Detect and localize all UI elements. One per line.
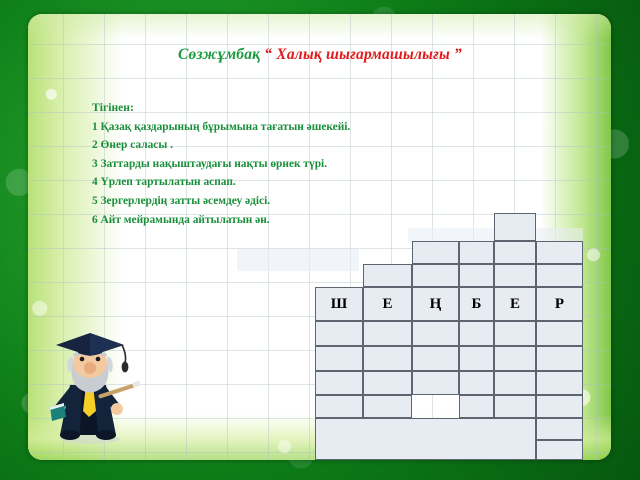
crossword-empty-cell[interactable]	[363, 346, 412, 371]
crossword-empty-cell[interactable]	[536, 321, 583, 346]
crossword-empty-cell[interactable]	[412, 241, 459, 264]
crossword-empty-cell[interactable]	[315, 395, 363, 418]
crossword-empty-cell[interactable]	[536, 371, 583, 395]
crossword-empty-cell[interactable]	[536, 241, 583, 264]
crossword-empty-cell[interactable]	[459, 346, 494, 371]
crossword-empty-cell[interactable]	[363, 321, 412, 346]
crossword-empty-cell[interactable]	[315, 321, 363, 346]
crossword-empty-cell[interactable]	[363, 371, 412, 395]
crossword-letter-cell-2[interactable]: Е	[363, 287, 412, 321]
crossword-empty-cell[interactable]	[459, 241, 494, 264]
professor-cartoon-icon	[36, 327, 140, 445]
crossword-empty-cell[interactable]	[315, 371, 363, 395]
crossword-empty-cell[interactable]	[412, 321, 459, 346]
crossword-empty-cell[interactable]	[459, 395, 494, 418]
crossword-empty-cell[interactable]	[536, 440, 583, 460]
crossword-empty-cell[interactable]	[412, 264, 459, 287]
crossword-empty-cell[interactable]	[315, 346, 363, 371]
crossword-empty-cell[interactable]	[459, 321, 494, 346]
crossword-empty-cell[interactable]	[363, 395, 412, 418]
crossword-empty-cell[interactable]	[494, 213, 536, 241]
crossword-empty-cell[interactable]	[363, 264, 412, 287]
crossword-letter-cell-3[interactable]: Ң	[412, 287, 459, 321]
crossword-empty-cell[interactable]	[494, 395, 536, 418]
crossword-letter-cell-5[interactable]: Е	[494, 287, 536, 321]
crossword-empty-cell[interactable]	[412, 371, 459, 395]
crossword-empty-cell[interactable]	[459, 371, 494, 395]
crossword-empty-cell[interactable]	[494, 346, 536, 371]
crossword-empty-cell[interactable]	[536, 264, 583, 287]
crossword-empty-cell[interactable]	[412, 346, 459, 371]
crossword-empty-cell[interactable]	[494, 264, 536, 287]
crossword-letter-cell-1[interactable]: Ш	[315, 287, 363, 321]
crossword-filler-block[interactable]	[315, 418, 536, 460]
slide-background: Сөзжұмбақ “ Халық шығармашылығы ” Тігіне…	[0, 0, 640, 480]
crossword-empty-cell[interactable]	[494, 241, 536, 264]
crossword-letter-cell-4[interactable]: Б	[459, 287, 494, 321]
crossword-empty-cell[interactable]	[536, 395, 583, 418]
crossword-empty-cell[interactable]	[494, 321, 536, 346]
crossword-empty-cell[interactable]	[459, 264, 494, 287]
crossword-letter-cell-6[interactable]: Р	[536, 287, 583, 321]
crossword-empty-cell[interactable]	[536, 346, 583, 371]
crossword-empty-cell[interactable]	[494, 371, 536, 395]
crossword-empty-cell[interactable]	[536, 418, 583, 440]
